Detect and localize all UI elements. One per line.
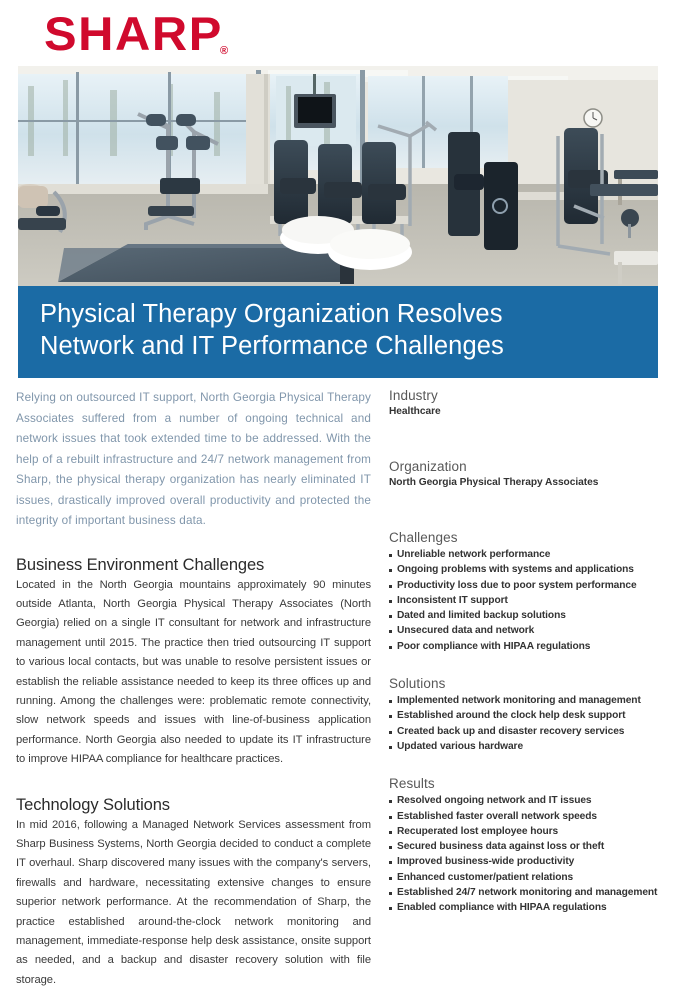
hero-photo-illustration xyxy=(18,66,658,286)
sidebar-heading-organization: Organization xyxy=(389,459,659,474)
section-body-technology-solutions: In mid 2016, following a Managed Network… xyxy=(16,816,371,990)
solutions-list: Implemented network monitoring and manag… xyxy=(389,693,659,754)
hero-photo xyxy=(18,66,658,286)
list-item: Dated and limited backup solutions xyxy=(389,608,659,623)
challenges-list: Unreliable network performanceOngoing pr… xyxy=(389,547,659,654)
section-heading-business-environment-challenges: Business Environment Challenges xyxy=(16,556,371,575)
page-title: Physical Therapy Organization Resolves N… xyxy=(40,298,640,362)
list-item: Productivity loss due to poor system per… xyxy=(389,578,659,593)
list-item: Established faster overall network speed… xyxy=(389,809,659,824)
list-item: Enhanced customer/patient relations xyxy=(389,870,659,885)
intro-paragraph: Relying on outsourced IT support, North … xyxy=(16,388,371,532)
spacer xyxy=(389,419,659,437)
title-banner: Physical Therapy Organization Resolves N… xyxy=(18,286,658,378)
spacer xyxy=(389,490,659,508)
sidebar-column: Industry Healthcare Organization North G… xyxy=(389,388,659,938)
section-heading-technology-solutions: Technology Solutions xyxy=(16,796,371,815)
main-content-column: Relying on outsourced IT support, North … xyxy=(16,388,371,990)
list-item: Unsecured data and network xyxy=(389,623,659,638)
list-item: Poor compliance with HIPAA regulations xyxy=(389,639,659,654)
sharp-logo: SHARP® xyxy=(44,8,344,60)
list-item: Unreliable network performance xyxy=(389,547,659,562)
list-item: Updated various hardware xyxy=(389,739,659,754)
sidebar-heading-challenges: Challenges xyxy=(389,530,659,545)
sidebar-heading-solutions: Solutions xyxy=(389,676,659,691)
results-list: Resolved ongoing network and IT issuesEs… xyxy=(389,793,659,915)
sidebar-heading-results: Results xyxy=(389,776,659,791)
list-item: Ongoing problems with systems and applic… xyxy=(389,562,659,577)
section-body-business-environment-challenges: Located in the North Georgia mountains a… xyxy=(16,576,371,770)
sidebar-value-industry: Healthcare xyxy=(389,405,659,419)
list-item: Resolved ongoing network and IT issues xyxy=(389,793,659,808)
list-item: Secured business data against loss or th… xyxy=(389,839,659,854)
list-item: Inconsistent IT support xyxy=(389,593,659,608)
sidebar-block-industry: Industry Healthcare xyxy=(389,388,659,437)
sidebar-block-challenges: Challenges Unreliable network performanc… xyxy=(389,530,659,654)
list-item: Recuperated lost employee hours xyxy=(389,824,659,839)
list-item: Improved business-wide productivity xyxy=(389,854,659,869)
list-item: Enabled compliance with HIPAA regulation… xyxy=(389,900,659,915)
sidebar-value-organization: North Georgia Physical Therapy Associate… xyxy=(389,476,659,490)
sidebar-heading-industry: Industry xyxy=(389,388,659,403)
list-item: Established 24/7 network monitoring and … xyxy=(389,885,659,900)
sidebar-block-results: Results Resolved ongoing network and IT … xyxy=(389,776,659,915)
list-item: Established around the clock help desk s… xyxy=(389,708,659,723)
sidebar-block-solutions: Solutions Implemented network monitoring… xyxy=(389,676,659,754)
list-item: Created back up and disaster recovery se… xyxy=(389,724,659,739)
logo-wordmark: SHARP xyxy=(44,8,223,60)
list-item: Implemented network monitoring and manag… xyxy=(389,693,659,708)
sidebar-block-organization: Organization North Georgia Physical Ther… xyxy=(389,459,659,508)
